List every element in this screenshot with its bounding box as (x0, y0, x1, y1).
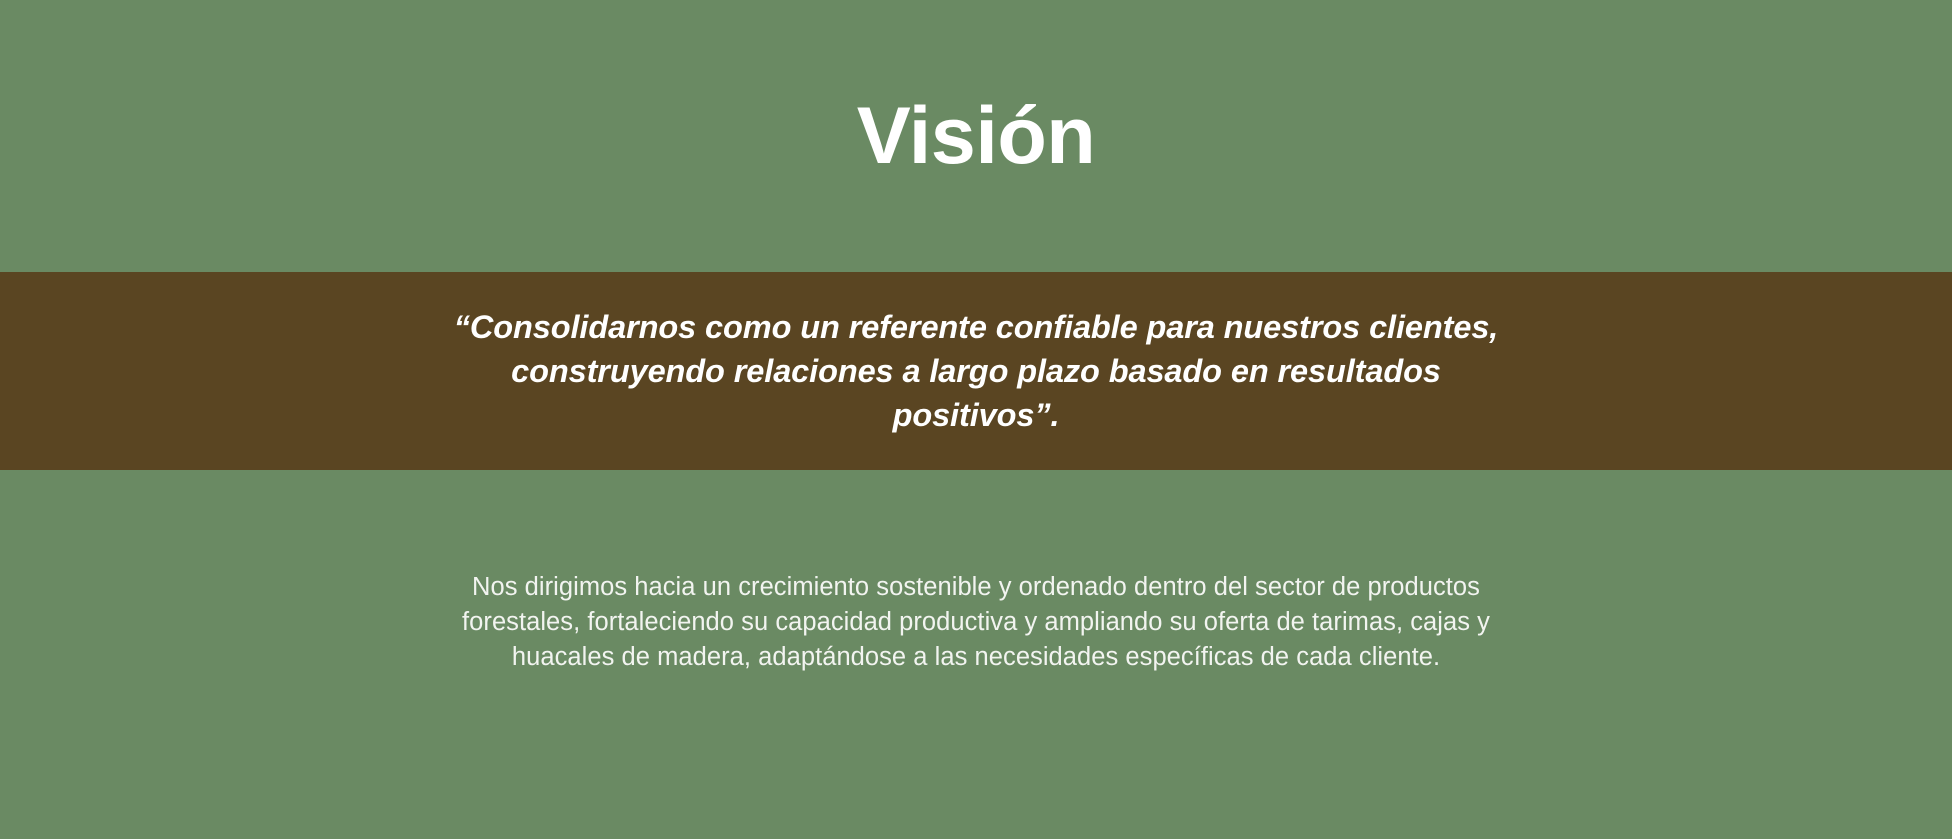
vision-slide: Visión “Consolidarnos como un referente … (0, 0, 1952, 839)
body-section: Nos dirigimos hacia un crecimiento soste… (0, 470, 1952, 839)
page-title: Visión (857, 96, 1096, 177)
title-section: Visión (0, 0, 1952, 272)
vision-description: Nos dirigimos hacia un crecimiento soste… (446, 570, 1506, 675)
quote-banner: “Consolidarnos como un referente confiab… (0, 272, 1952, 470)
vision-quote: “Consolidarnos como un referente confiab… (446, 305, 1506, 437)
